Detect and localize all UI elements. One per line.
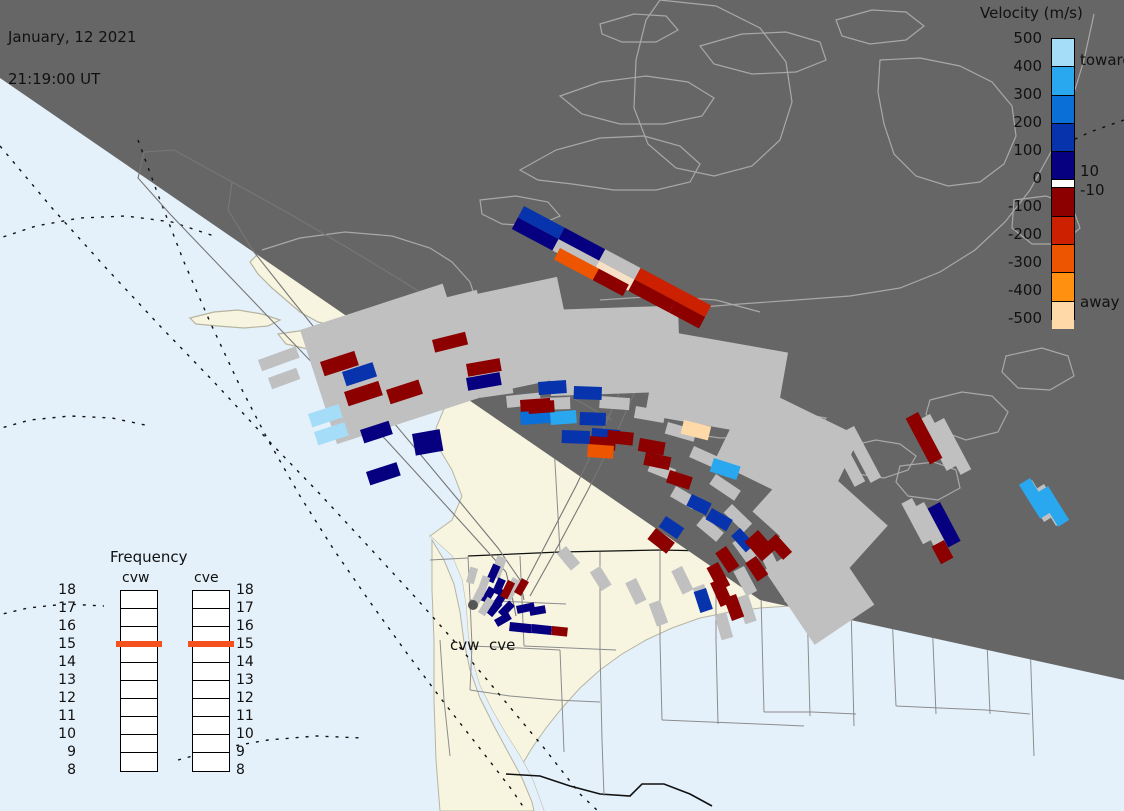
frequency-cell	[193, 753, 229, 771]
colorbar-segment	[1052, 152, 1074, 180]
colorbar-segment	[1052, 302, 1074, 329]
frequency-cell	[121, 753, 157, 771]
colorbar-toward-label: toward	[1080, 51, 1124, 69]
map-site-label-cvw: cvw	[450, 636, 479, 654]
velocity-colorbar: Velocity (m/s) 5004003002001000-100-200-…	[980, 4, 1124, 324]
frequency-tick: 9	[236, 744, 245, 760]
colorbar-tick: -300	[1008, 253, 1042, 271]
frequency-cell	[193, 681, 229, 699]
colorbar-segment	[1052, 67, 1074, 95]
colorbar-segment	[1052, 217, 1074, 245]
frequency-legend: Frequency cvw18171615141312111098cve1817…	[92, 548, 242, 783]
frequency-legend-title: Frequency	[110, 548, 188, 566]
frequency-cell	[193, 717, 229, 735]
title-date: January, 12 2021	[8, 30, 136, 44]
colorbar-away-label: away	[1080, 293, 1120, 311]
colorbar-tick: -500	[1008, 309, 1042, 327]
frequency-marker-cve	[188, 641, 234, 647]
frequency-cell	[121, 717, 157, 735]
frequency-cell	[121, 591, 157, 609]
frequency-cell	[121, 699, 157, 717]
colorbar-segment	[1052, 245, 1074, 273]
frequency-tick: 14	[236, 654, 254, 670]
colorbar-segment	[1052, 180, 1074, 188]
frequency-tick: 12	[236, 690, 254, 706]
frequency-tick: 8	[67, 762, 76, 778]
colorbar-tick: 500	[1013, 29, 1042, 47]
map-site-label-cve: cve	[489, 636, 515, 654]
colorbar-threshold-high: 10	[1080, 162, 1099, 180]
frequency-cell	[121, 681, 157, 699]
frequency-tick: 13	[58, 672, 76, 688]
colorbar-segment	[1052, 39, 1074, 67]
colorbar-tick: 0	[1032, 169, 1042, 187]
frequency-tick: 11	[58, 708, 76, 724]
colorbar-tick: 200	[1013, 113, 1042, 131]
colorbar-tick: -200	[1008, 225, 1042, 243]
frequency-cell	[193, 699, 229, 717]
frequency-radar-name: cvw	[122, 570, 149, 586]
frequency-marker-cvw	[116, 641, 162, 647]
frequency-tick: 18	[58, 582, 76, 598]
frequency-cell	[121, 645, 157, 663]
frequency-cell	[193, 645, 229, 663]
frequency-tick: 8	[236, 762, 245, 778]
frequency-tick: 17	[58, 600, 76, 616]
frequency-tick: 10	[58, 726, 76, 742]
frequency-tick: 10	[236, 726, 254, 742]
colorbar-segment	[1052, 96, 1074, 124]
frequency-tick: 14	[58, 654, 76, 670]
colorbar-tick: 400	[1013, 57, 1042, 75]
frequency-tick: 9	[67, 744, 76, 760]
colorbar-title: Velocity (m/s)	[980, 4, 1124, 22]
frequency-tick: 16	[236, 618, 254, 634]
frequency-cell	[193, 663, 229, 681]
frequency-cell	[121, 663, 157, 681]
frequency-tick: 11	[236, 708, 254, 724]
screenshot-root: January, 12 2021 21:19:00 UT Velocity (m…	[0, 0, 1124, 811]
frequency-cell	[121, 735, 157, 753]
colorbar-threshold-low: -10	[1080, 181, 1105, 199]
colorbar-segment	[1052, 188, 1074, 216]
frequency-tick: 15	[236, 636, 254, 652]
frequency-cell	[121, 609, 157, 627]
title-time: 21:19:00 UT	[8, 72, 136, 86]
frequency-radar-name: cve	[194, 570, 219, 586]
colorbar-tick: -400	[1008, 281, 1042, 299]
colorbar-tick: 300	[1013, 85, 1042, 103]
colorbar-tick: -100	[1008, 197, 1042, 215]
frequency-tick: 12	[58, 690, 76, 706]
frequency-tick: 16	[58, 618, 76, 634]
timestamp-title: January, 12 2021 21:19:00 UT	[8, 2, 136, 114]
frequency-cell	[193, 609, 229, 627]
frequency-tick: 18	[236, 582, 254, 598]
frequency-tick: 13	[236, 672, 254, 688]
frequency-tick: 17	[236, 600, 254, 616]
colorbar-tick-labels: 5004003002001000-100-200-300-400-500	[980, 38, 1046, 318]
colorbar-tick: 100	[1013, 141, 1042, 159]
colorbar-gradient	[1051, 38, 1075, 320]
frequency-cell	[193, 591, 229, 609]
colorbar-segment	[1052, 124, 1074, 152]
frequency-bar	[192, 590, 230, 772]
frequency-cell	[193, 735, 229, 753]
frequency-bar	[120, 590, 158, 772]
colorbar-segment	[1052, 273, 1074, 301]
frequency-tick: 15	[58, 636, 76, 652]
